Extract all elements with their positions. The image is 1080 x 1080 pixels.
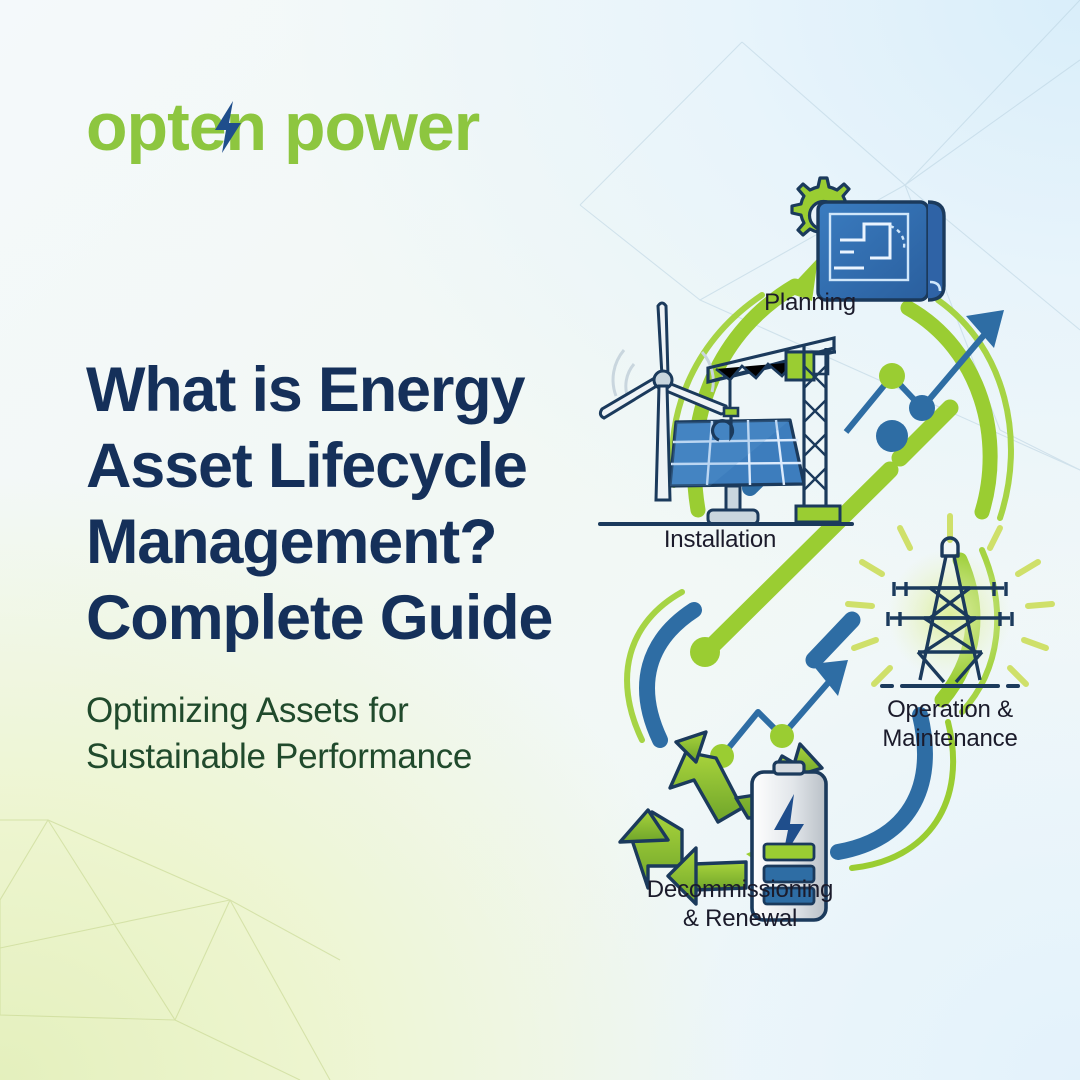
node-label-decommissioning-line-1: Decommissioning	[647, 876, 833, 903]
lifecycle-diagram-graphics	[590, 140, 1080, 970]
headline-line-2: Asset Lifecycle	[86, 431, 527, 501]
page-title: What is Energy Asset Lifecycle Managemen…	[86, 352, 646, 656]
lifecycle-diagram: Planning Installation Operation & Mainte…	[590, 140, 1080, 970]
node-label-operation-line-2: Maintenance	[882, 725, 1017, 752]
page-subtitle: Optimizing Assets for Sustainable Perfor…	[86, 688, 606, 780]
growth-trend-arrow-lower	[710, 660, 848, 768]
connector-decommissioning-to-installation	[627, 592, 694, 740]
node-icon-installation	[600, 303, 852, 524]
node-label-operation-maintenance: Operation & Maintenance	[840, 695, 1060, 753]
node-icon-planning	[792, 178, 944, 300]
subtitle-line-2: Sustainable Performance	[86, 737, 472, 776]
lightning-bolt-icon	[207, 99, 249, 155]
node-label-decommissioning-renewal: Decommissioning & Renewal	[595, 875, 885, 933]
headline-line-4: Complete Guide	[86, 583, 552, 653]
headline-line-3: Management?	[86, 507, 496, 577]
node-icon-operation-maintenance	[848, 516, 1052, 686]
headline-line-1: What is Energy	[86, 355, 524, 425]
poster-canvas: opten power What is Energy Asset Lifecyc…	[0, 0, 1080, 1080]
node-label-installation: Installation	[610, 525, 830, 554]
node-label-decommissioning-line-2: & Renewal	[683, 905, 797, 932]
brand-logo-text: opten power	[86, 88, 479, 166]
brand-logo[interactable]: opten power	[86, 88, 556, 166]
node-label-planning: Planning	[710, 288, 910, 317]
node-label-operation-line-1: Operation &	[887, 696, 1013, 723]
subtitle-line-1: Optimizing Assets for	[86, 691, 408, 730]
